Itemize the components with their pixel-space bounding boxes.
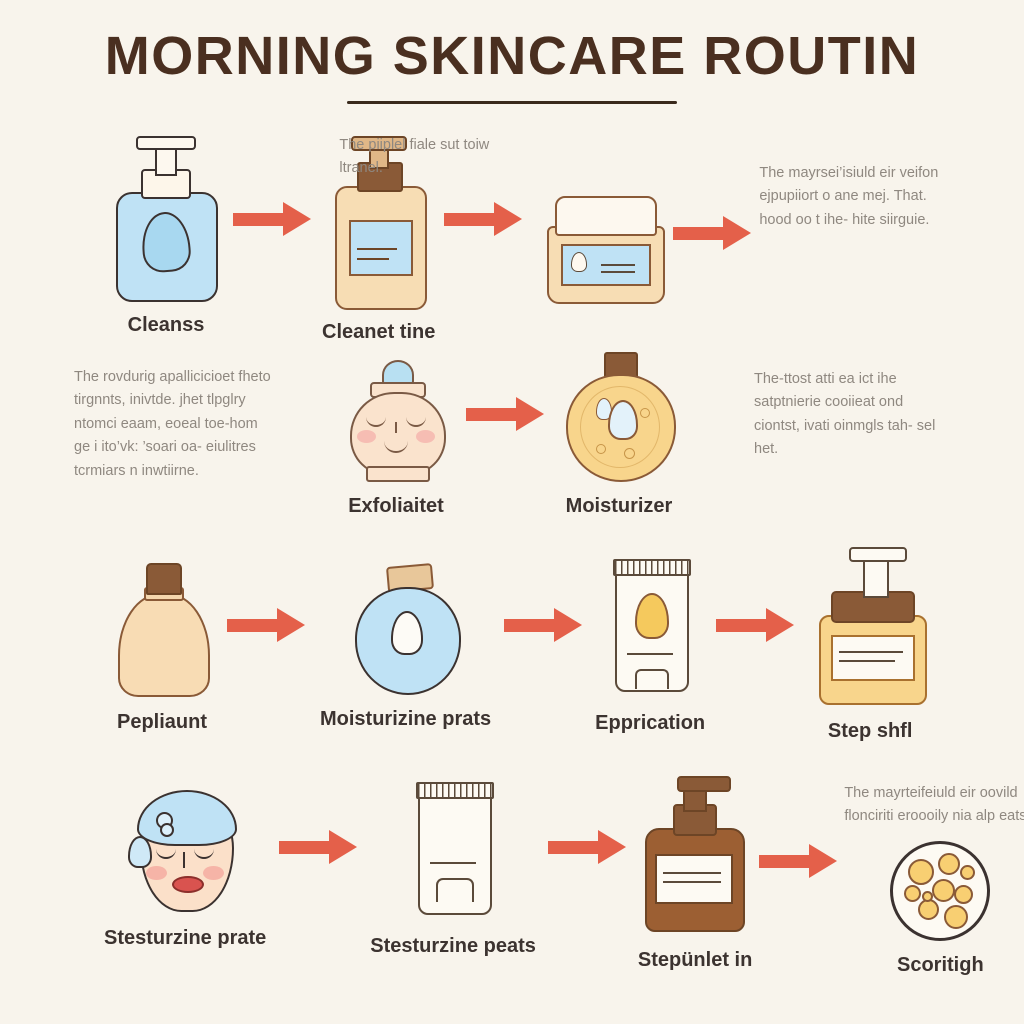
- page-title: MORNING SKINCARE ROUTIN: [0, 28, 1024, 85]
- title-block: MORNING SKINCARE ROUTIN: [0, 28, 1024, 104]
- arrow-right-icon: [444, 202, 522, 236]
- teardrop-bottle-icon: [112, 563, 212, 698]
- cream-tube-icon: [607, 559, 693, 699]
- arrow-right-icon: [759, 844, 837, 878]
- arrow-1-1: [222, 136, 322, 301]
- note-block-2-1: The rovdurig apallicicioet fheto tirgnnt…: [74, 366, 274, 483]
- step-label: Pepliaunt: [117, 710, 207, 734]
- step-label: Moisturizer: [566, 494, 673, 518]
- step-cleanser[interactable]: Cleanss: [110, 136, 222, 337]
- step-label: Step shfl: [828, 719, 912, 743]
- note-text: The mayrteifeiuld eir oovild flonciriti …: [844, 782, 1024, 829]
- arrow-right-icon: [466, 397, 544, 431]
- title-underline-rule: [347, 101, 677, 104]
- note-block-2-2: The-ttost atti ea ict ihe satptnierie co…: [754, 368, 946, 462]
- pump-jar-amber-icon: [805, 547, 935, 707]
- note-text: The mayrsei’isiuld eir veifon ejpupiiort…: [759, 162, 951, 232]
- step-label: Cleanss: [128, 313, 205, 337]
- step-brown-pump[interactable]: Stepünlet in: [638, 776, 752, 972]
- arrow-right-icon: [716, 608, 794, 642]
- round-flask-blue-icon: [349, 565, 463, 695]
- step-label: Exfoliaitet: [348, 494, 444, 518]
- arrow-3-3: [705, 545, 805, 705]
- step-shelf[interactable]: Step shfl: [805, 547, 935, 743]
- step-row-3: Pepliaunt Moisturizine prats Epprication…: [0, 545, 1024, 760]
- arrow-right-icon: [504, 608, 582, 642]
- pump-bottle-blue-icon: [110, 136, 222, 301]
- step-pepliaunt[interactable]: Pepliaunt: [112, 563, 212, 734]
- step-label: Stepünlet in: [638, 948, 752, 972]
- arrow-4-3: [752, 786, 844, 936]
- note-block-1-2: The mayrsei’isiuld eir veifon ejpupiiort…: [759, 162, 951, 232]
- note-text: The piiplel fiale sut toiw ltranel.: [339, 134, 531, 181]
- arrow-right-icon: [233, 202, 311, 236]
- step-row-2: The rovdurig apallicicioet fheto tirgnnt…: [0, 352, 1024, 537]
- step-label: Stesturzine prate: [104, 926, 266, 950]
- step-face-mask[interactable]: Stesturzine prate: [104, 788, 266, 950]
- step-row-4: Stesturzine prate Stesturzine peats Step…: [0, 772, 1024, 1002]
- step-moisturizer[interactable]: Moisturizer: [560, 352, 678, 518]
- step-row-1: Cleanss Cleanet tine The piiplel fiale s…: [0, 136, 1024, 336]
- arrow-3-2: [491, 545, 595, 705]
- step-cream-jar[interactable]: [543, 196, 665, 304]
- arrow-right-icon: [673, 216, 751, 250]
- step-plain-tube[interactable]: Stesturzine peats: [370, 782, 536, 958]
- step-label: Stesturzine peats: [370, 934, 536, 958]
- arrow-2-1: [450, 352, 560, 476]
- arrow-1-3: [665, 150, 759, 315]
- step-exfoliate[interactable]: Exfoliaitet: [342, 360, 450, 518]
- arrow-right-icon: [227, 608, 305, 642]
- arrow-3-1: [212, 545, 320, 705]
- face-jar-icon: [342, 360, 450, 482]
- cream-jar-icon: [543, 196, 665, 304]
- note-text: The rovdurig apallicicioet fheto tirgnnt…: [74, 366, 274, 483]
- arrow-4-1: [266, 772, 370, 922]
- step-moisturizing-prats[interactable]: Moisturizine prats: [320, 565, 491, 731]
- step-label: Moisturizine prats: [320, 707, 491, 731]
- step-sunscreen[interactable]: The mayrteifeiuld eir oovild flonciriti …: [844, 782, 1024, 977]
- sunscreen-bubbles-icon: [890, 841, 990, 941]
- arrow-right-icon: [548, 830, 626, 864]
- pump-bottle-brown-icon: [639, 776, 751, 936]
- step-label: Scoritigh: [897, 953, 984, 977]
- arrow-4-2: [536, 772, 638, 922]
- step-label: Epprication: [595, 711, 705, 735]
- arrow-right-icon: [279, 830, 357, 864]
- note-text: The-ttost atti ea ict ihe satptnierie co…: [754, 368, 946, 462]
- step-label: Cleanet tine: [322, 320, 435, 344]
- step-epprication[interactable]: Epprication: [595, 559, 705, 735]
- face-with-mask-icon: [126, 788, 244, 914]
- round-flask-amber-icon: [560, 352, 678, 482]
- plain-tube-icon: [410, 782, 496, 922]
